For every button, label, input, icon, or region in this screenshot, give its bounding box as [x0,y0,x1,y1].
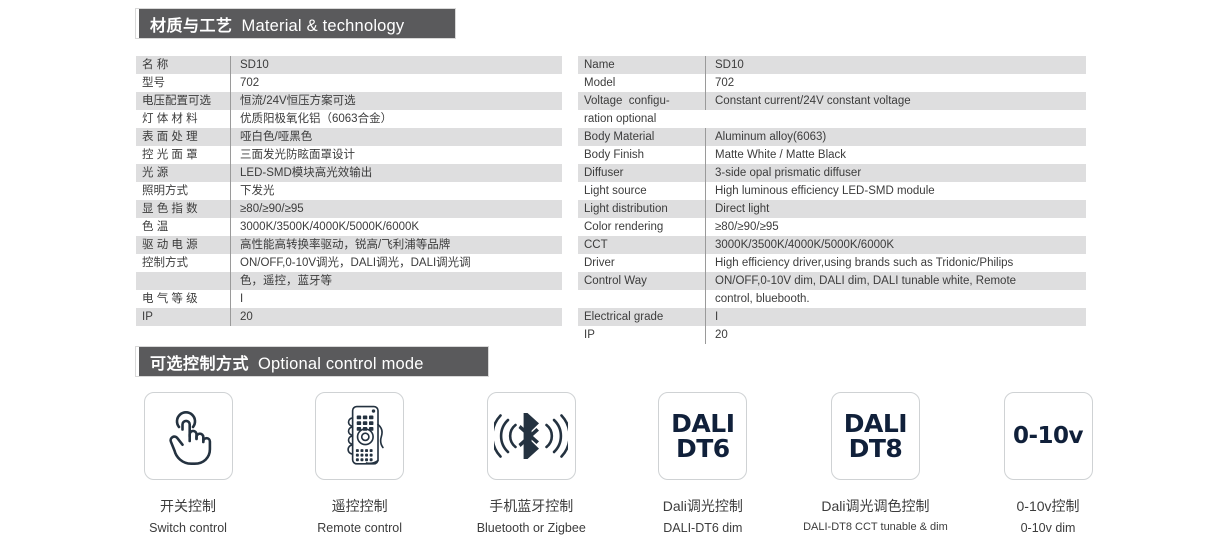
spec-en-key: Name [578,56,705,74]
table-row: NameSD10 [578,56,1086,74]
control-mode-label-en: DALI-DT8 CCT tunable & dim [803,521,948,533]
table-row: 型号702 [136,74,562,92]
spec-en-value: I [705,308,1086,326]
table-row: 显 色 指 数≥80/≥90/≥95 [136,200,562,218]
spec-cn-value: 色，遥控，蓝牙等 [230,272,562,290]
dali-dt6-icon-label: DALIDT6 [671,411,734,462]
control-mode-label-cn: 开关控制 [160,496,216,516]
mode-spacer [258,392,290,537]
spec-en-value: 702 [705,74,1086,92]
mode-spacer [430,392,462,537]
spec-cn-key: 控制方式 [136,254,230,272]
control-mode-label-en: 0-10v dim [1021,521,1076,535]
table-row: Model702 [578,74,1086,92]
spec-en-value: Constant current/24V constant voltage [705,92,1086,110]
dali-dt8-icon: DALIDT8 [831,392,920,480]
control-mode-label-en: Switch control [149,521,227,535]
spec-en-value: Matte White / Matte Black [705,146,1086,164]
table-row: Body FinishMatte White / Matte Black [578,146,1086,164]
section-header-material-en: Material & technology [242,17,405,36]
spec-table-chinese: 名 称SD10型号702电压配置可选恒流/24V恒压方案可选灯 体 材 料优质阳… [136,56,562,326]
spec-cn-key: 驱 动 电 源 [136,236,230,254]
spec-cn-value: LED-SMD模块高光效输出 [230,164,562,182]
spec-en-key: Light distribution [578,200,705,218]
spec-cn-key: 照明方式 [136,182,230,200]
spec-cn-value: ON/OFF,0-10V调光，DALI调光，DALI调光调 [230,254,562,272]
table-row: 照明方式下发光 [136,182,562,200]
spec-en-key: Model [578,74,705,92]
control-mode-item[interactable]: 开关控制Switch control [118,392,258,537]
mode-spacer [601,392,633,537]
spec-en-key: Voltage configu- [578,92,705,110]
table-row: Diffuser3-side opal prismatic diffuser [578,164,1086,182]
control-mode-label-cn: Dali调光调色控制 [821,496,929,516]
control-mode-label-en: DALI-DT6 dim [663,521,742,535]
remote-control-icon [315,392,404,480]
table-row: 光 源LED-SMD模块高光效输出 [136,164,562,182]
table-row: 电压配置可选恒流/24V恒压方案可选 [136,92,562,110]
table-row: 名 称SD10 [136,56,562,74]
spec-en-key: Electrical grade [578,308,705,326]
table-row: 控 光 面 罩三面发光防眩面罩设计 [136,146,562,164]
control-mode-label-cn: 手机蓝牙控制 [489,496,573,516]
spec-en-value: Aluminum alloy(6063) [705,128,1086,146]
spec-cn-value: 优质阳极氧化铝（6063合金） [230,110,562,128]
spec-cn-key: 光 源 [136,164,230,182]
table-row: 控制方式ON/OFF,0-10V调光，DALI调光，DALI调光调 [136,254,562,272]
table-row: Electrical gradeI [578,308,1086,326]
table-row: Control WayON/OFF,0-10V dim, DALI dim, D… [578,272,1086,290]
spec-en-key: Body Finish [578,146,705,164]
table-row: Voltage configu-Constant current/24V con… [578,92,1086,110]
spec-cn-key: 电压配置可选 [136,92,230,110]
spec-cn-value: ≥80/≥90/≥95 [230,200,562,218]
spec-cn-value: 三面发光防眩面罩设计 [230,146,562,164]
spec-cn-value: 3000K/3500K/4000K/5000K/6000K [230,218,562,236]
spec-cn-value: 702 [230,74,562,92]
spec-en-key: Light source [578,182,705,200]
zero-ten-volt-icon: 0-10v [1004,392,1093,480]
spec-cn-key: 电 气 等 级 [136,290,230,308]
spec-en-key: Body Material [578,128,705,146]
mode-spacer [946,392,978,537]
table-row: ration optional [578,110,1086,128]
spec-en-key: Color rendering [578,218,705,236]
table-row: CCT3000K/3500K/4000K/5000K/6000K [578,236,1086,254]
spec-cn-value: 20 [230,308,562,326]
spec-cn-key: IP [136,308,230,326]
table-row: IP20 [578,326,1086,344]
control-mode-label-cn: Dali调光控制 [663,496,743,516]
table-row: Color rendering≥80/≥90/≥95 [578,218,1086,236]
spec-cn-key: 显 色 指 数 [136,200,230,218]
bluetooth-signal-icon [487,392,576,480]
control-mode-list: 开关控制Switch control 遥控控制Remote control 手机… [118,392,1118,537]
spec-en-value: 3-side opal prismatic diffuser [705,164,1086,182]
spec-cn-value: 恒流/24V恒压方案可选 [230,92,562,110]
section-header-control-en: Optional control mode [258,355,424,374]
control-mode-item[interactable]: DALIDT6Dali调光控制DALI-DT6 dim [633,392,773,537]
spec-en-value: 20 [705,326,1086,344]
spec-cn-key: 名 称 [136,56,230,74]
table-row: 灯 体 材 料优质阳极氧化铝（6063合金） [136,110,562,128]
spec-en-value: 3000K/3500K/4000K/5000K/6000K [705,236,1086,254]
control-mode-label-cn: 遥控控制 [332,496,388,516]
control-mode-item[interactable]: DALIDT8Dali调光调色控制DALI-DT8 CCT tunable & … [804,392,946,537]
table-row: 色，遥控，蓝牙等 [136,272,562,290]
table-row: control, bluebooth. [578,290,1086,308]
control-mode-label-cn: 0-10v控制 [1017,496,1080,516]
section-header-material-cn: 材质与工艺 [150,12,233,36]
spec-cn-key: 色 温 [136,218,230,236]
spec-en-key: Diffuser [578,164,705,182]
spec-en-key: Driver [578,254,705,272]
control-mode-item[interactable]: 遥控控制Remote control [290,392,430,537]
spec-en-key: Control Way [578,272,705,290]
control-mode-label-en: Remote control [317,521,402,535]
control-mode-label-en: Bluetooth or Zigbee [477,521,586,535]
zero-ten-volt-icon-label: 0-10v [1013,423,1083,449]
spec-en-value: Direct light [705,200,1086,218]
control-mode-item[interactable]: 手机蓝牙控制Bluetooth or Zigbee [461,392,601,537]
table-row: Light distributionDirect light [578,200,1086,218]
spec-cn-value: SD10 [230,56,562,74]
mode-spacer [773,392,805,537]
section-header-control-mode: 可选控制方式 Optional control mode [136,347,488,376]
spec-cn-value: 高性能高转换率驱动，锐高/飞利浦等品牌 [230,236,562,254]
hand-touch-icon [144,392,233,480]
control-mode-item[interactable]: 0-10v0-10v控制0-10v dim [978,392,1118,537]
dali-dt6-icon: DALIDT6 [658,392,747,480]
spec-en-value: High luminous efficiency LED-SMD module [705,182,1086,200]
spec-cn-key: 灯 体 材 料 [136,110,230,128]
table-row: 电 气 等 级I [136,290,562,308]
spec-cn-key: 控 光 面 罩 [136,146,230,164]
table-row: DriverHigh efficiency driver,using brand… [578,254,1086,272]
spec-en-value: ≥80/≥90/≥95 [705,218,1086,236]
spec-en-key: CCT [578,236,705,254]
spec-cn-value: 下发光 [230,182,562,200]
spec-en-key: ration optional [578,110,705,128]
spec-cn-value: 哑白色/哑黑色 [230,128,562,146]
section-header-material: 材质与工艺 Material & technology [136,9,455,38]
spec-en-value: control, bluebooth. [705,290,1086,308]
spec-en-value: SD10 [705,56,1086,74]
spec-cn-value: I [230,290,562,308]
spec-cn-key: 型号 [136,74,230,92]
table-row: Body MaterialAluminum alloy(6063) [578,128,1086,146]
table-row: 驱 动 电 源高性能高转换率驱动，锐高/飞利浦等品牌 [136,236,562,254]
table-row: 色 温3000K/3500K/4000K/5000K/6000K [136,218,562,236]
spec-en-key: IP [578,326,705,344]
table-row: Light sourceHigh luminous efficiency LED… [578,182,1086,200]
dali-dt8-icon-label: DALIDT8 [844,411,907,462]
spec-en-value: ON/OFF,0-10V dim, DALI dim, DALI tunable… [705,272,1086,290]
table-row: 表 面 处 理哑白色/哑黑色 [136,128,562,146]
spec-en-value: High efficiency driver,using brands such… [705,254,1086,272]
spec-table-english: NameSD10Model702Voltage configu-Constant… [578,56,1086,344]
section-header-control-cn: 可选控制方式 [150,350,249,374]
spec-cn-key: 表 面 处 理 [136,128,230,146]
table-row: IP20 [136,308,562,326]
